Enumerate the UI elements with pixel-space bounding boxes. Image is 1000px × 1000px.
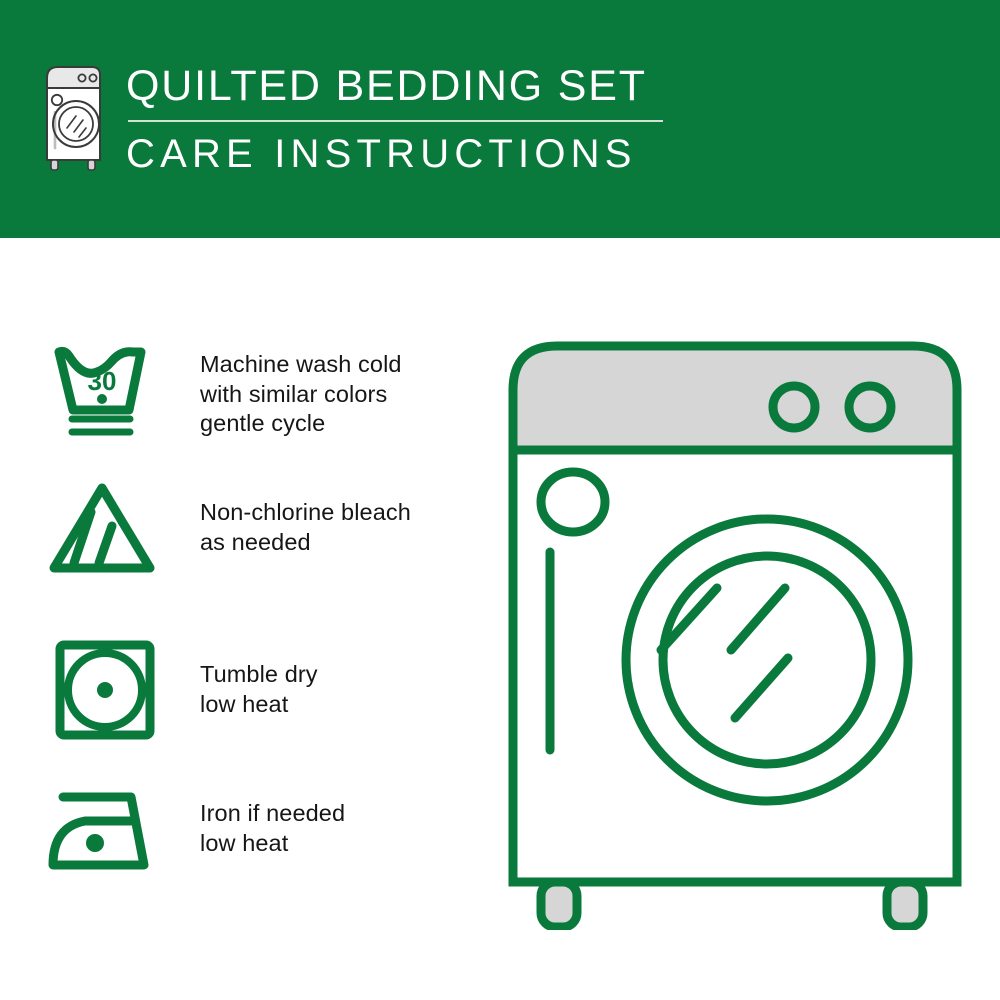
tumble-dry-low-heat-icon bbox=[46, 638, 164, 742]
wash-temperature-label: 30 bbox=[88, 366, 117, 396]
title-divider bbox=[128, 120, 663, 122]
wash-tub-30-gentle-icon: 30 bbox=[46, 338, 164, 442]
iron-low-heat-icon bbox=[46, 783, 164, 875]
care-row-machine-wash-label: Machine wash cold with similar colors ge… bbox=[200, 338, 402, 439]
care-row-tumble-dry: Tumble dry low heat bbox=[46, 638, 318, 742]
header-content: QUILTED BEDDING SET CARE INSTRUCTIONS bbox=[42, 62, 663, 176]
foot-left bbox=[541, 882, 577, 927]
care-row-tumble-dry-label: Tumble dry low heat bbox=[200, 638, 318, 719]
care-row-bleach: Non-chlorine bleach as needed bbox=[46, 476, 411, 576]
machine-body bbox=[513, 450, 957, 882]
front-load-washing-machine-illustration bbox=[495, 330, 975, 930]
washing-machine-icon bbox=[42, 62, 104, 174]
care-row-iron: Iron if needed low heat bbox=[46, 783, 345, 875]
header-titles: QUILTED BEDDING SET CARE INSTRUCTIONS bbox=[126, 62, 663, 176]
care-row-bleach-label: Non-chlorine bleach as needed bbox=[200, 476, 411, 557]
page-subtitle: CARE INSTRUCTIONS bbox=[126, 132, 663, 176]
care-row-machine-wash: 30 Machine wash cold with similar colors… bbox=[46, 338, 402, 442]
page-title: QUILTED BEDDING SET bbox=[126, 62, 663, 111]
foot-right bbox=[887, 882, 923, 927]
care-row-iron-label: Iron if needed low heat bbox=[200, 783, 345, 858]
care-instructions-infographic: QUILTED BEDDING SET CARE INSTRUCTIONS 30 bbox=[0, 0, 1000, 1000]
non-chlorine-bleach-triangle-icon bbox=[46, 476, 164, 576]
care-instruction-list: 30 Machine wash cold with similar colors… bbox=[0, 238, 500, 1000]
header-banner: QUILTED BEDDING SET CARE INSTRUCTIONS bbox=[0, 0, 1000, 238]
